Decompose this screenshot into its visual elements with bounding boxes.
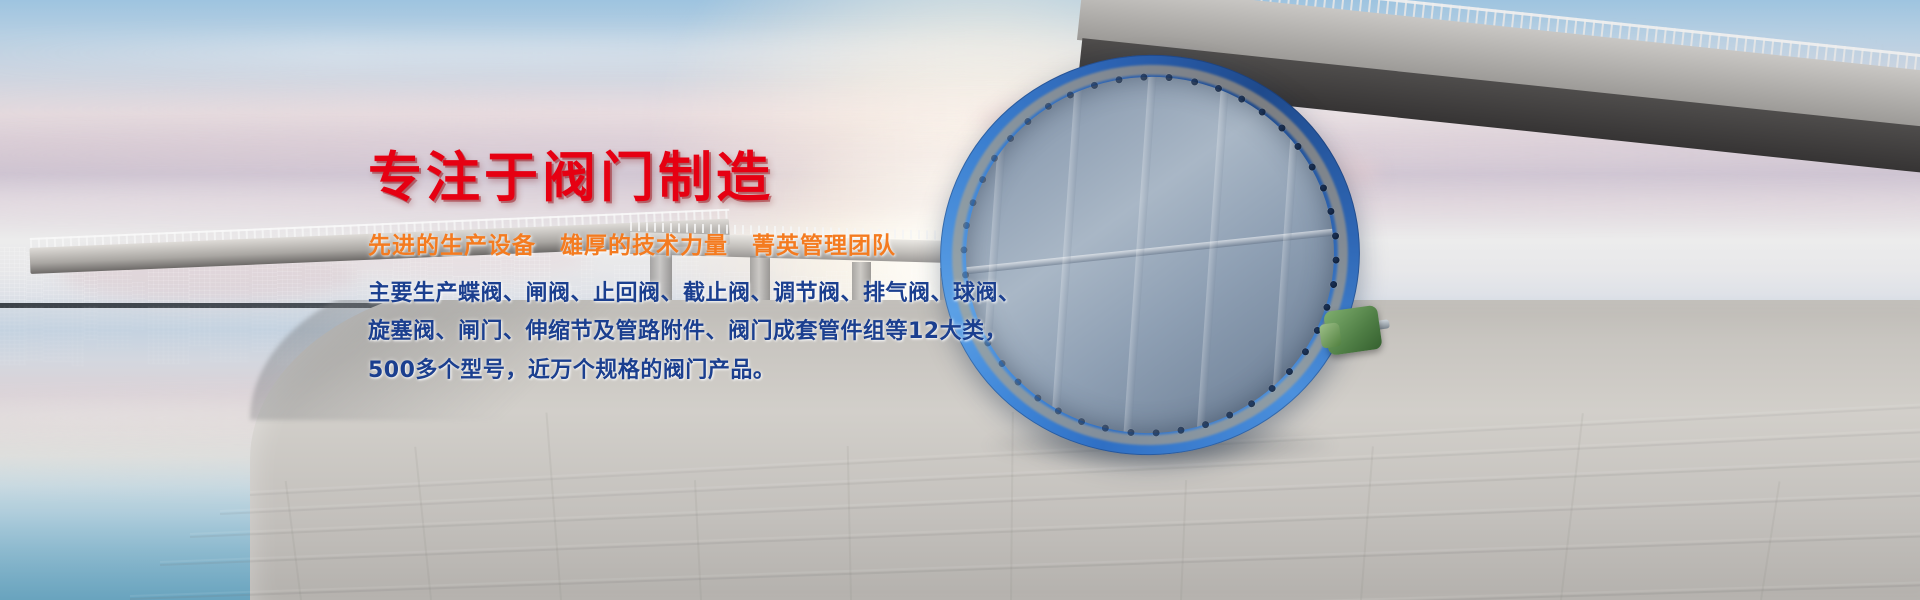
headline: 专注于阀门制造 bbox=[368, 148, 968, 207]
body-line-3: 500多个型号，近万个规格的阀门产品。 bbox=[368, 352, 968, 391]
banner-copy: 专注于阀门制造 先进的生产设备 雄厚的技术力量 菁英管理团队 主要生产蝶阀、闸阀… bbox=[368, 148, 968, 390]
body-line-2: 旋塞阀、闸门、伸缩节及管路附件、阀门成套管件组等12大类， bbox=[368, 313, 968, 352]
valve-actuator bbox=[1316, 295, 1394, 366]
body-copy: 主要生产蝶阀、闸阀、止回阀、截止阀、调节阀、排气阀、球阀、 旋塞阀、闸门、伸缩节… bbox=[368, 275, 968, 391]
subheading: 先进的生产设备 雄厚的技术力量 菁英管理团队 bbox=[368, 233, 968, 261]
actuator-cap bbox=[1319, 322, 1342, 349]
butterfly-valve-product bbox=[920, 34, 1380, 476]
body-line-1: 主要生产蝶阀、闸阀、止回阀、截止阀、调节阀、排气阀、球阀、 bbox=[368, 275, 968, 314]
valve-seat-ring bbox=[933, 45, 1367, 464]
hero-banner: 专注于阀门制造 先进的生产设备 雄厚的技术力量 菁英管理团队 主要生产蝶阀、闸阀… bbox=[0, 0, 1920, 600]
